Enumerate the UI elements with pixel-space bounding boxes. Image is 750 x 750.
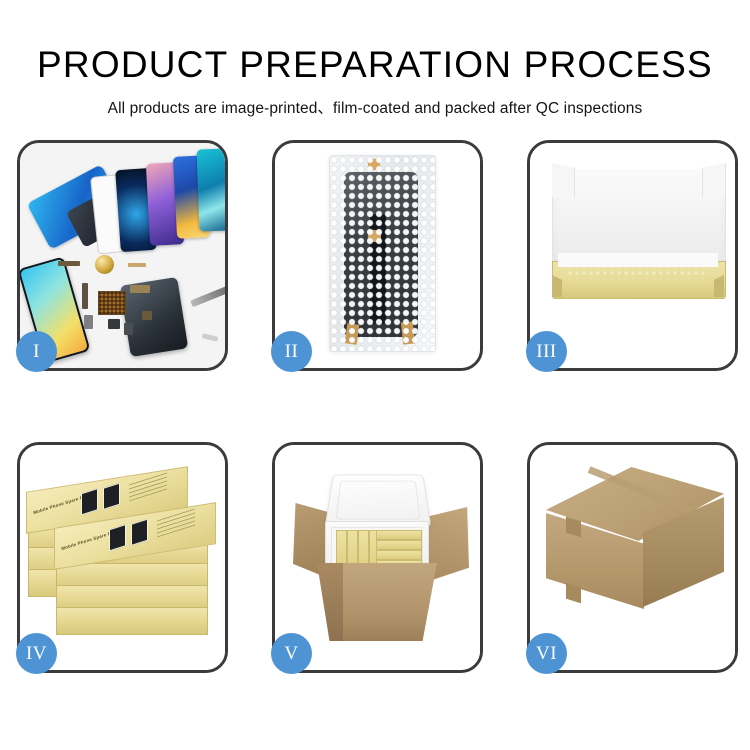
bubble-wrap-scene — [275, 143, 480, 368]
step-3-image — [530, 143, 735, 368]
stacked-boxes-scene: Mobile Phone Spare Parts Mobile Phone Sp… — [20, 445, 225, 670]
product-preparation-infographic: PRODUCT PREPARATION PROCESS All products… — [0, 0, 750, 750]
box-stack: Mobile Phone Spare Parts Mobile Phone Sp… — [26, 467, 225, 647]
foam-box-lid — [325, 475, 432, 528]
page-title: PRODUCT PREPARATION PROCESS — [0, 46, 750, 83]
header: PRODUCT PREPARATION PROCESS All products… — [0, 0, 750, 118]
page-subtitle: All products are image-printed、film-coat… — [0, 96, 750, 118]
step-badge-2: II — [271, 331, 312, 372]
step-2-image — [275, 143, 480, 368]
sensor-part-icon — [124, 323, 133, 335]
tweezers-icon — [190, 286, 225, 307]
camera-module-icon — [130, 285, 150, 293]
box-screen-graphic — [131, 519, 148, 546]
phone-teal-wallpaper-icon — [197, 148, 225, 231]
bubble-wrapped-items — [567, 256, 709, 279]
carton-body-left — [317, 563, 343, 641]
sealed-carton-scene — [530, 445, 735, 670]
process-step-panel-2[interactable]: II — [272, 140, 483, 371]
connector-icon — [128, 263, 146, 267]
flex-cable-icon — [82, 283, 88, 309]
gold-component-icon — [95, 255, 114, 274]
box-screen-graphic — [81, 488, 98, 515]
chip-array-icon — [98, 291, 126, 315]
process-step-grid: I II — [17, 140, 733, 673]
step-4-image: Mobile Phone Spare Parts Mobile Phone Sp… — [20, 445, 225, 670]
speaker-part-icon — [108, 319, 120, 329]
process-step-panel-3[interactable]: III — [527, 140, 738, 371]
packed-yellow-box — [376, 540, 422, 550]
step-badge-6: VI — [526, 633, 567, 674]
box-lid-left-flap — [552, 163, 575, 197]
packed-yellow-box — [376, 550, 422, 560]
process-step-panel-5[interactable]: V — [272, 442, 483, 673]
step-badge-4: IV — [16, 633, 57, 674]
small-part-icon — [58, 261, 80, 266]
foam-lid-inset — [335, 481, 420, 520]
process-step-panel-6[interactable]: VI — [527, 442, 738, 673]
phone-parts-scene — [20, 143, 225, 368]
process-step-panel-4[interactable]: Mobile Phone Spare Parts Mobile Phone Sp… — [17, 442, 228, 673]
step-badge-3: III — [526, 331, 567, 372]
carton-foam-scene — [275, 445, 480, 670]
step-badge-5: V — [271, 633, 312, 674]
box-spec-lines — [129, 471, 167, 501]
step-6-image — [530, 445, 735, 670]
box-lid-right-flap — [702, 163, 725, 197]
box-screen-graphic — [103, 483, 120, 510]
step-1-image — [20, 143, 225, 368]
step-badge-1: I — [16, 331, 57, 372]
box-spec-lines — [157, 507, 195, 537]
bubble-texture — [330, 156, 435, 351]
stacked-box — [56, 607, 208, 635]
chip-part-icon — [142, 311, 152, 320]
open-box-scene — [530, 143, 735, 368]
process-step-panel-1[interactable]: I — [17, 140, 228, 371]
bubble-wrap-bag — [329, 155, 436, 352]
step-5-image — [275, 445, 480, 670]
box-screen-graphic — [109, 524, 126, 551]
screw-icon — [202, 333, 219, 342]
button-part-icon — [84, 315, 93, 329]
packed-yellow-box — [376, 530, 422, 540]
